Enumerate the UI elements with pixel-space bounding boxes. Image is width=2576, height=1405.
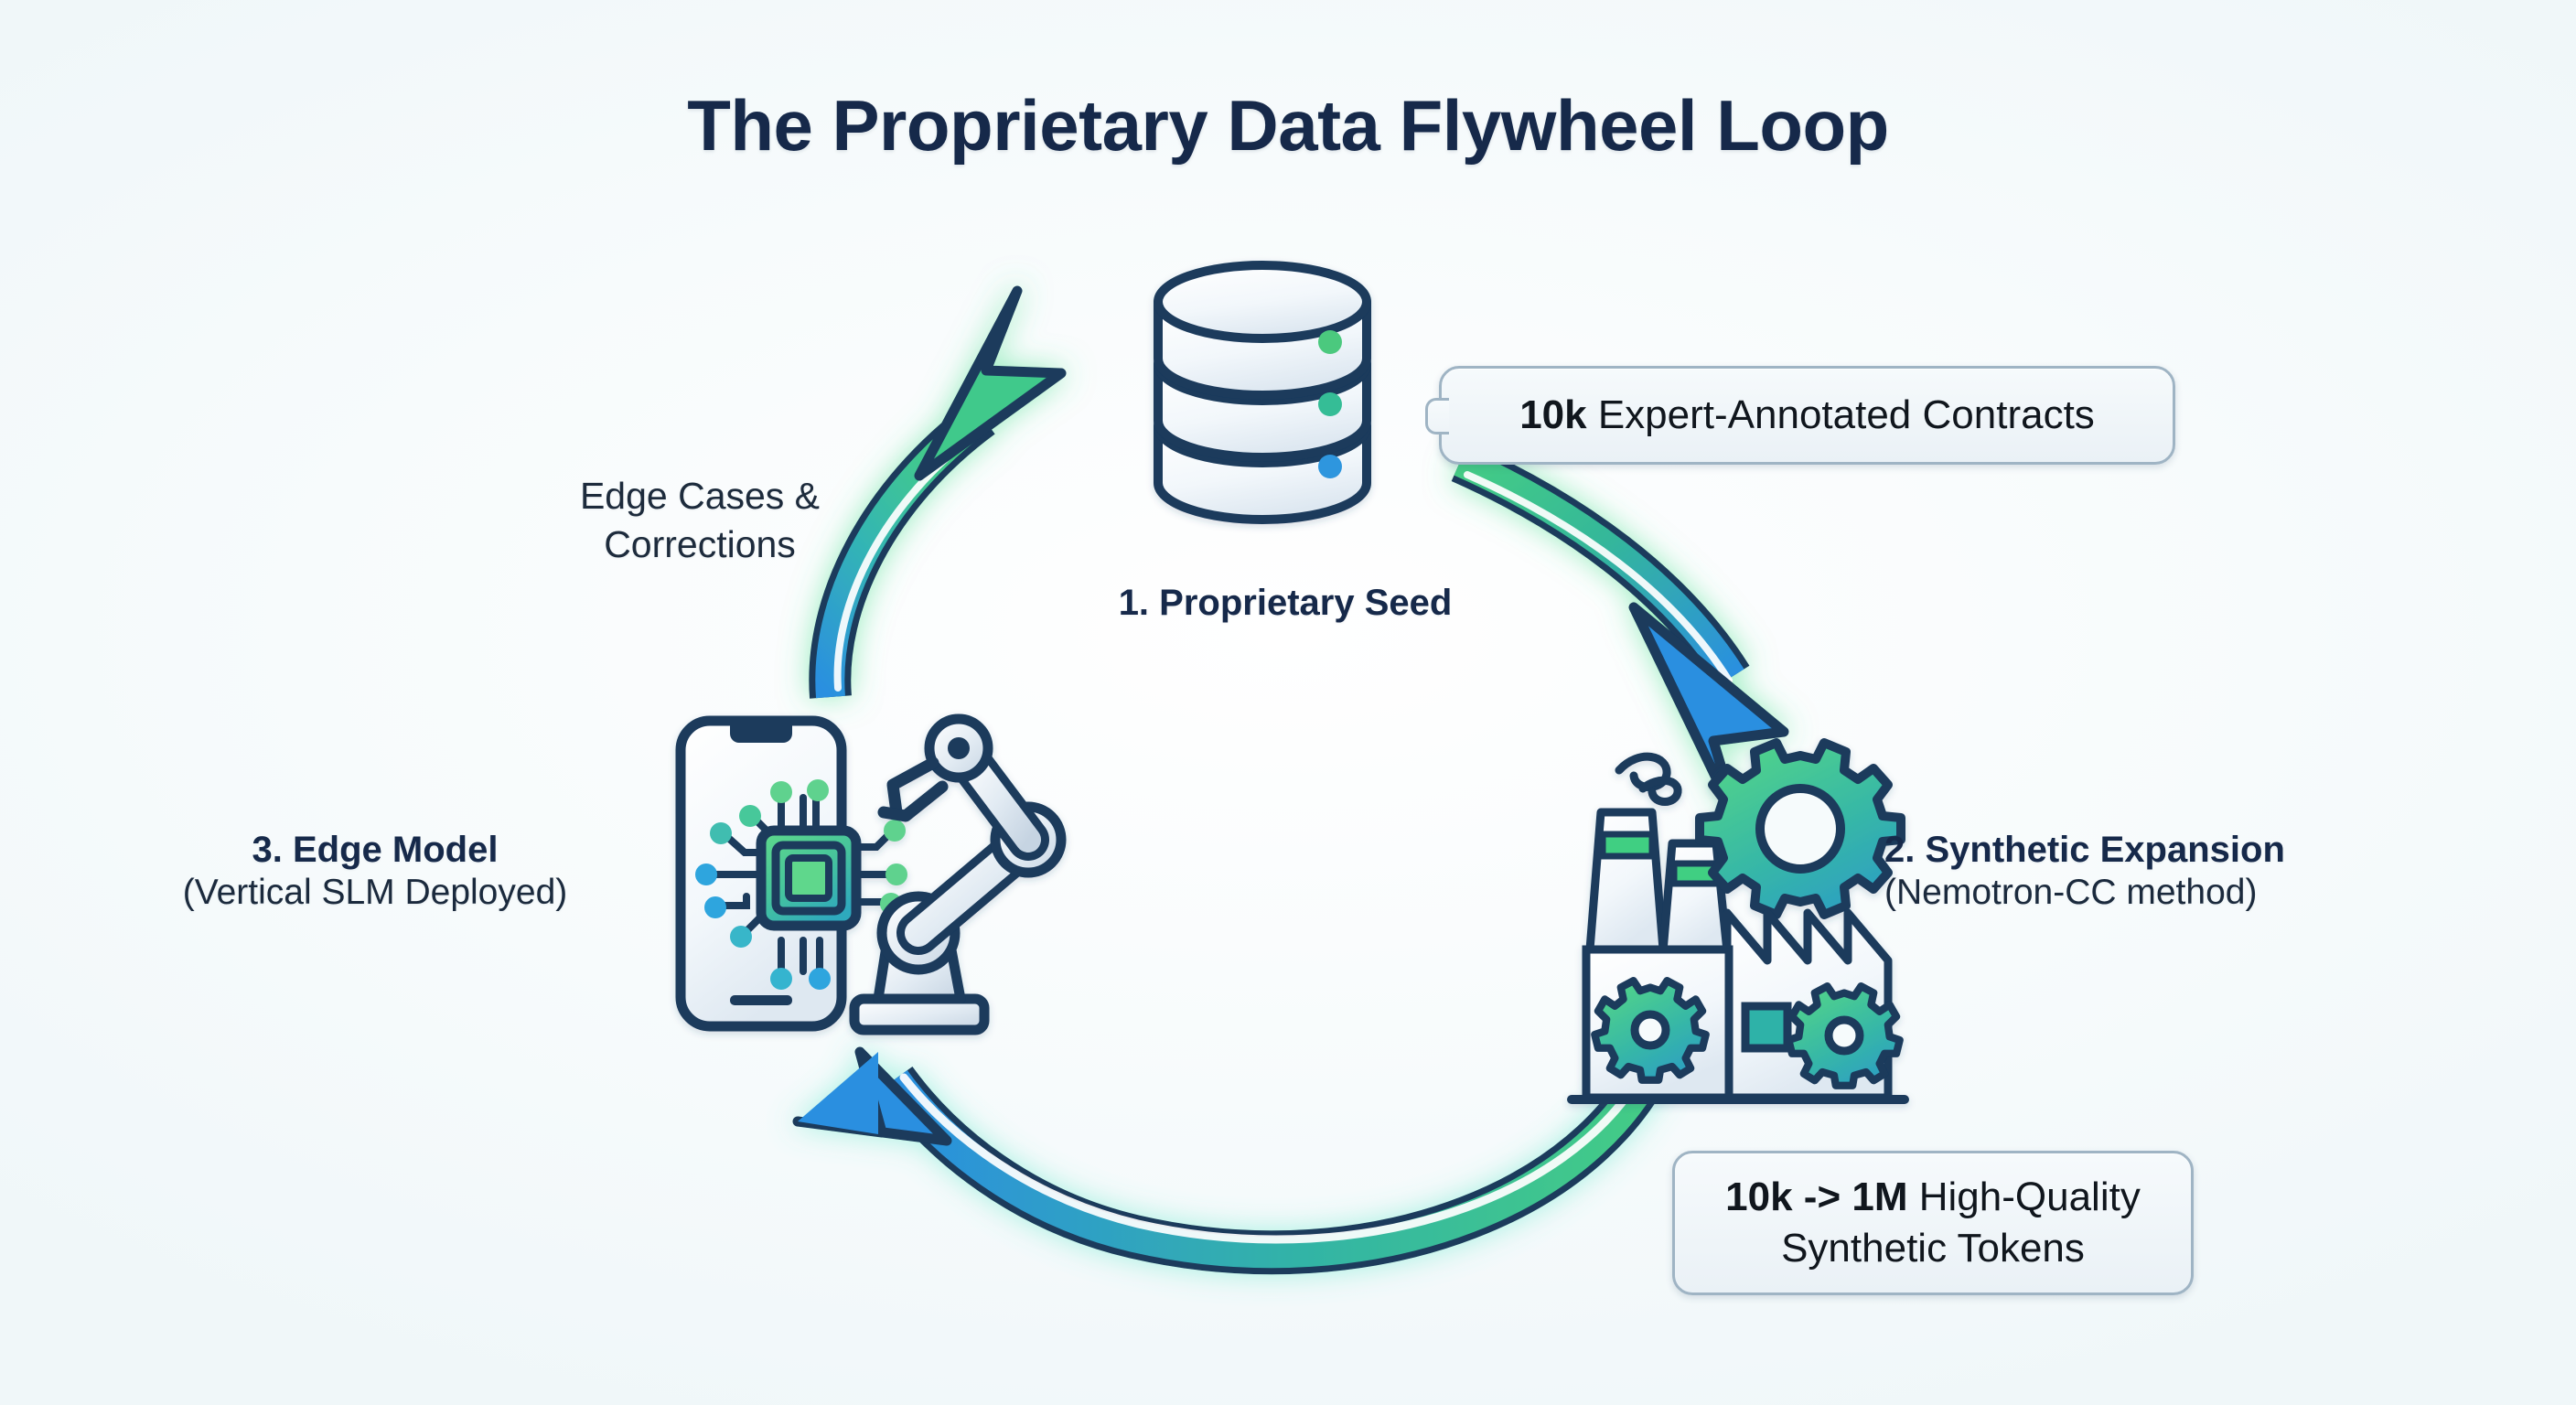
callout-badge-synthetic-tokens: 10k -> 1M High-Quality Synthetic Tokens [1672, 1151, 2194, 1295]
arrow-synthetic-to-edge [798, 1034, 1665, 1252]
badge-seed-bold: 10k [1519, 392, 1586, 437]
node-label-synthetic: 2. Synthetic Expansion (Nemotron-CC meth… [1884, 829, 2488, 914]
node-label-edge-primary: 3. Edge Model [64, 829, 686, 872]
badge-seed-regular: Expert-Annotated Contracts [1587, 392, 2095, 437]
factory-gears-icon [1572, 743, 1905, 1099]
node-label-synthetic-primary: 2. Synthetic Expansion [1884, 829, 2488, 872]
flow-label-line2: Corrections [604, 523, 796, 565]
flow-label-edge-cases: Edge Cases & Corrections [508, 472, 892, 570]
node-label-synthetic-secondary: (Nemotron-CC method) [1884, 872, 2488, 914]
phone-chip-robot-arm-icon [681, 719, 1061, 1030]
node-label-edge: 3. Edge Model (Vertical SLM Deployed) [64, 829, 686, 914]
callout-badge-expert-contracts: 10k Expert-Annotated Contracts [1439, 366, 2175, 465]
node-label-edge-secondary: (Vertical SLM Deployed) [64, 872, 686, 914]
badge-tokens-regular-1: High-Quality [1908, 1174, 2141, 1219]
database-icon [1158, 265, 1367, 520]
badge-tokens-regular-2: Synthetic Tokens [1781, 1223, 2085, 1274]
flow-label-line1: Edge Cases & [580, 475, 820, 517]
badge-tokens-bold: 10k -> 1M [1725, 1174, 1907, 1219]
node-label-seed-primary: 1. Proprietary Seed [1057, 582, 1514, 625]
diagram-canvas: The Proprietary Data Flywheel Loop [0, 0, 2576, 1405]
node-label-seed: 1. Proprietary Seed [1057, 582, 1514, 625]
